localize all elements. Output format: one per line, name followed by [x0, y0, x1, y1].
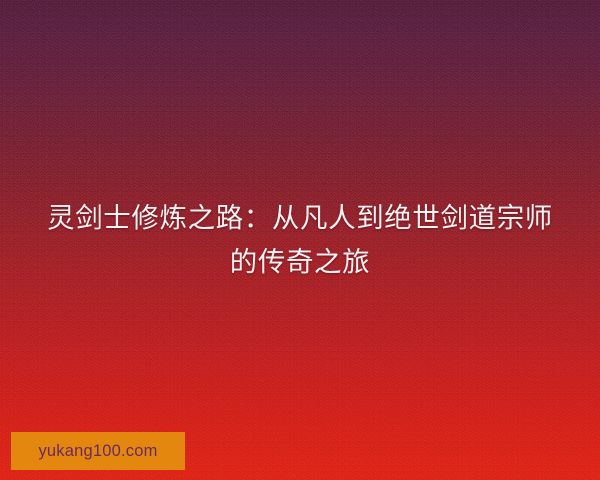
title-line-2: 的传奇之旅: [18, 240, 582, 284]
watermark-badge[interactable]: yukang100.com: [11, 432, 185, 470]
poster-canvas: 灵剑士修炼之路：从凡人到绝世剑道宗师 的传奇之旅 yukang100.com: [0, 0, 600, 480]
title-line-1: 灵剑士修炼之路：从凡人到绝世剑道宗师: [18, 196, 582, 240]
watermark-label: yukang100.com: [38, 443, 157, 460]
poster-title: 灵剑士修炼之路：从凡人到绝世剑道宗师 的传奇之旅: [0, 0, 600, 480]
